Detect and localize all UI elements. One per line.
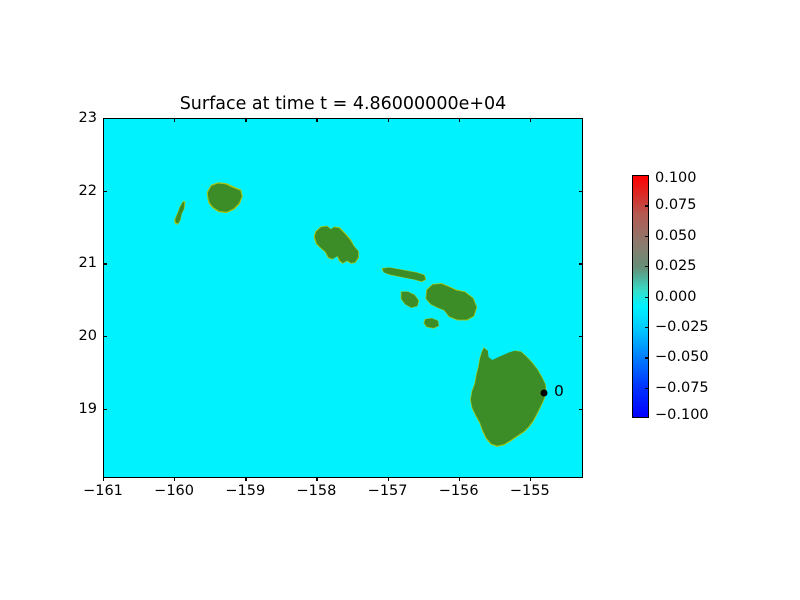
xtick-mark-top	[388, 118, 389, 122]
xtick-mark-top	[174, 118, 175, 122]
ytick-mark	[103, 409, 107, 410]
colorbar-tick	[645, 297, 649, 298]
xtick-label: −157	[368, 483, 408, 499]
ytick-mark	[103, 191, 107, 192]
ytick-mark-right	[579, 191, 583, 192]
page-title: Surface at time t = 4.86000000e+04	[103, 94, 583, 114]
ytick-mark-right	[579, 409, 583, 410]
xtick-mark-top	[459, 118, 460, 122]
colorbar-tick-label: −0.025	[655, 319, 709, 335]
gauge-marker-0[interactable]	[540, 390, 547, 397]
xtick-label: −158	[296, 483, 336, 499]
ytick-mark	[103, 118, 107, 119]
colorbar-tick-label: −0.075	[655, 380, 709, 396]
ytick-label: 21	[79, 255, 97, 271]
colorbar-tick	[645, 327, 649, 328]
ytick-mark	[103, 336, 107, 337]
map-axes[interactable]: 0	[103, 118, 583, 478]
xtick-label: −161	[83, 483, 123, 499]
colorbar-tick	[645, 236, 649, 237]
xtick-mark	[388, 477, 389, 481]
colorbar-tick-label: −0.100	[655, 407, 709, 423]
ytick-mark-right	[579, 263, 583, 264]
xtick-mark	[174, 477, 175, 481]
colorbar-tick	[645, 205, 649, 206]
colorbar-tick-label: 0.075	[655, 197, 697, 213]
colorbar-tick-label: 0.100	[655, 170, 697, 186]
xtick-label: −155	[510, 483, 550, 499]
colorbar-tick	[645, 266, 649, 267]
colorbar-tick-label: 0.050	[655, 228, 697, 244]
gauge-label-0: 0	[554, 382, 564, 400]
xtick-label: −156	[439, 483, 479, 499]
ytick-mark-right	[579, 336, 583, 337]
xtick-label: −160	[154, 483, 194, 499]
xtick-mark	[459, 477, 460, 481]
xtick-label: −159	[225, 483, 265, 499]
surface-heatmap	[104, 119, 582, 477]
ytick-label: 23	[79, 110, 97, 126]
figure-canvas: Surface at time t = 4.86000000e+04	[0, 0, 800, 600]
xtick-mark-top	[530, 118, 531, 122]
xtick-mark	[245, 477, 246, 481]
colorbar-tick	[645, 357, 649, 358]
xtick-mark	[316, 477, 317, 481]
colorbar-tick-label: 0.000	[655, 289, 697, 305]
colorbar-tick	[645, 388, 649, 389]
colorbar-tick-label: 0.025	[655, 258, 697, 274]
ytick-mark	[103, 263, 107, 264]
ytick-label: 20	[79, 328, 97, 344]
ytick-label: 19	[79, 401, 97, 417]
xtick-mark-top	[316, 118, 317, 122]
xtick-mark	[103, 477, 104, 481]
xtick-mark	[530, 477, 531, 481]
colorbar-tick-label: −0.050	[655, 349, 709, 365]
ytick-label: 22	[79, 183, 97, 199]
xtick-mark-top	[245, 118, 246, 122]
